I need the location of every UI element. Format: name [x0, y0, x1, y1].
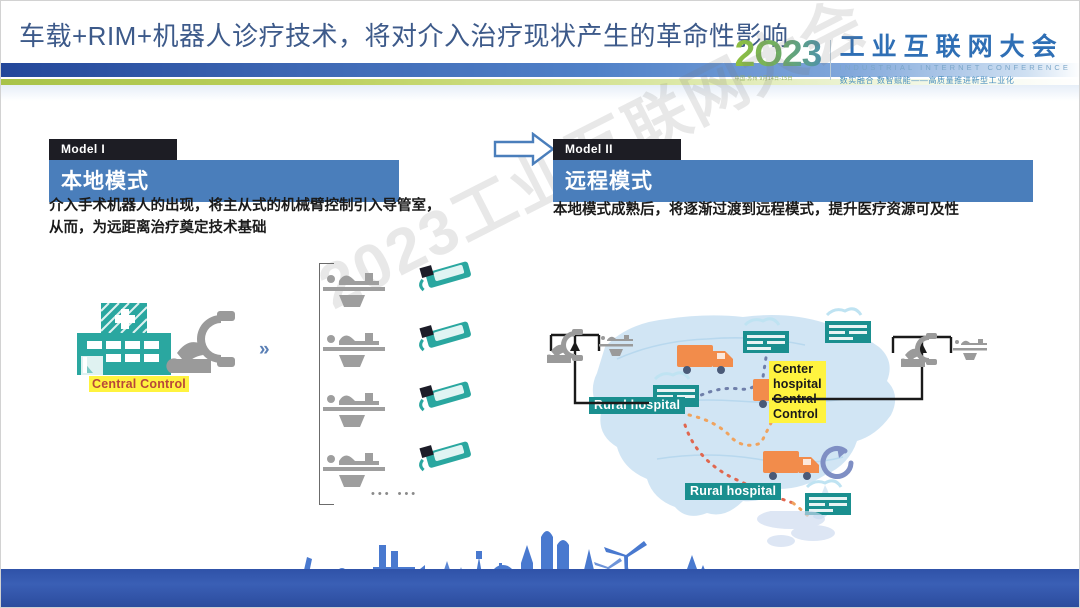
central-control-label: Central Control [89, 376, 189, 392]
patient-bed-icon [323, 333, 385, 367]
logo-year-block: 2O23 中国·苏州 9月14日-15日 [735, 34, 821, 86]
bottom-blue-bar [1, 569, 1080, 607]
logo-year: 2O23 [735, 34, 821, 74]
model-two-heading: 远程模式 [553, 160, 1033, 202]
right-c-arm-icon [901, 331, 991, 371]
left-c-arm-icon [547, 327, 637, 367]
logo-text-block: 工业互联网大会 INDUSTRIAL INTERNET CONFERENCE 数… [840, 34, 1071, 86]
model-two-block: Model II 远程模式 [553, 139, 1033, 202]
transition-arrow-icon [493, 132, 555, 166]
model-one-tab: Model I [49, 139, 177, 160]
robot-device-icon [416, 259, 472, 471]
bed-list-ellipsis: ••• ••• [371, 488, 418, 500]
patient-bed-icon [323, 453, 385, 487]
logo-divider [830, 40, 831, 80]
c-arm-machine-icon [166, 311, 235, 373]
model-one-description: 介入手术机器人的出现，将主从式的机械臂控制引入导管室，从而，为远距离治疗奠定技术… [49, 195, 449, 239]
chevron-right-icon: » [259, 339, 270, 361]
model-two-description: 本地模式成熟后，将逐渐过渡到远程模式，提升医疗资源可及性 [553, 199, 1053, 221]
conference-logo: 2O23 中国·苏州 9月14日-15日 工业互联网大会 INDUSTRIAL … [735, 29, 1071, 91]
hospital-roof-icon [101, 303, 147, 333]
logo-name-en: INDUSTRIAL INTERNET CONFERENCE [840, 63, 1071, 72]
rural-hospital-label-lower: Rural hospital [685, 483, 781, 500]
patient-bed-icon [323, 393, 385, 427]
logo-subtitle: 数实融合 数智赋能——高质量推进新型工业化 [840, 75, 1071, 86]
logo-date: 中国·苏州 9月14日-15日 [735, 75, 821, 82]
page-title: 车载+RIM+机器人诊疗技术，将对介入治疗现状产生的革命性影响 [19, 19, 819, 53]
model-two-tab: Model II [553, 139, 681, 160]
presentation-slide: 车载+RIM+机器人诊疗技术，将对介入治疗现状产生的革命性影响 2O23 中国·… [0, 0, 1080, 608]
hospital-building-icon [77, 333, 171, 375]
model-one-block: Model I 本地模式 [49, 139, 399, 202]
patient-bed-icon [323, 273, 385, 307]
logo-name-cn: 工业互联网大会 [840, 34, 1071, 61]
patient-beds-illustration [319, 259, 499, 509]
